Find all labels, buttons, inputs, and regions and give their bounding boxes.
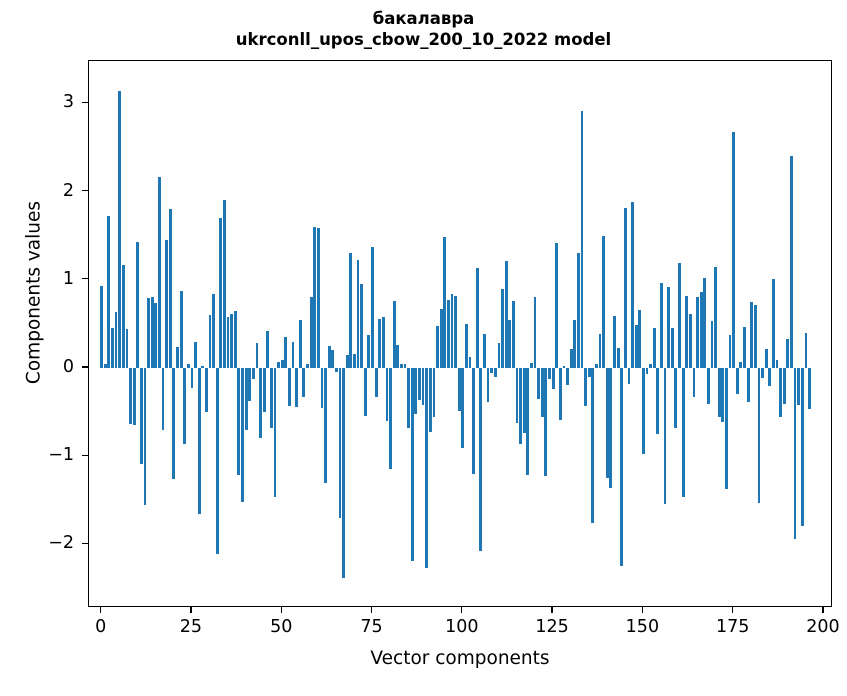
bar	[436, 326, 439, 368]
bar	[552, 368, 555, 389]
bar	[162, 368, 165, 430]
bar	[100, 286, 103, 368]
bar	[732, 132, 735, 368]
y-tick-label: 0	[63, 357, 74, 377]
bar	[519, 368, 522, 444]
bar	[429, 368, 432, 432]
bar	[104, 364, 107, 368]
bar	[122, 265, 125, 368]
bar	[487, 368, 490, 402]
bar	[696, 297, 699, 368]
bar	[682, 368, 685, 497]
bar	[537, 368, 540, 399]
bar	[443, 237, 446, 368]
bar	[591, 368, 594, 523]
bar	[646, 368, 649, 374]
y-tick-mark	[82, 102, 88, 103]
bar	[414, 368, 417, 414]
bar	[656, 368, 659, 434]
bar	[555, 243, 558, 368]
y-tick-mark	[82, 278, 88, 279]
bar	[281, 360, 284, 368]
bar	[411, 368, 414, 561]
bar	[284, 337, 287, 368]
bar	[230, 314, 233, 368]
bar	[364, 368, 367, 416]
y-tick-mark	[82, 366, 88, 367]
bar	[628, 368, 631, 384]
bar	[378, 319, 381, 368]
x-tick-mark	[551, 607, 552, 613]
bar	[541, 368, 544, 417]
bar	[219, 218, 222, 368]
bar	[295, 368, 298, 407]
bar	[638, 310, 641, 368]
bar	[126, 329, 129, 368]
bar	[274, 368, 277, 497]
bar	[313, 227, 316, 368]
bar	[786, 339, 789, 368]
bar	[472, 368, 475, 474]
bar	[237, 368, 240, 475]
bar	[739, 362, 742, 368]
x-tick-mark	[371, 607, 372, 613]
bar	[270, 368, 273, 428]
bar	[508, 320, 511, 368]
bar	[339, 368, 342, 518]
bar	[371, 247, 374, 368]
bar	[526, 368, 529, 475]
bar	[187, 364, 190, 368]
bar	[321, 368, 324, 408]
bar	[367, 335, 370, 369]
bar	[801, 368, 804, 526]
bar	[169, 209, 172, 368]
bar	[516, 368, 519, 423]
bar	[263, 368, 266, 412]
bar	[725, 368, 728, 489]
bar	[667, 287, 670, 368]
plot-area	[88, 60, 832, 607]
x-tick-label: 200	[806, 617, 839, 637]
bar	[144, 368, 147, 505]
bar	[606, 368, 609, 478]
bar	[111, 328, 114, 368]
bar	[299, 320, 302, 368]
bar	[375, 368, 378, 397]
bar	[671, 328, 674, 368]
x-tick-label: 0	[95, 617, 106, 637]
bar	[418, 368, 421, 400]
bar	[534, 297, 537, 368]
bar	[252, 368, 255, 379]
bar	[649, 364, 652, 368]
bar	[198, 368, 201, 514]
bar	[324, 368, 327, 483]
chart-title: бакалавра ukrconll_upos_cbow_200_10_2022…	[0, 8, 847, 50]
bar	[700, 292, 703, 368]
bar	[317, 228, 320, 368]
bar	[310, 297, 313, 368]
x-tick-mark	[100, 607, 101, 613]
bar	[602, 236, 605, 368]
bar	[779, 368, 782, 417]
bar	[245, 368, 248, 430]
bar	[584, 368, 587, 406]
bar	[642, 368, 645, 454]
bar	[599, 334, 602, 368]
y-axis-label: Components values	[24, 143, 45, 443]
bar	[176, 347, 179, 368]
bar	[465, 324, 468, 368]
bar	[750, 302, 753, 368]
bar	[588, 368, 591, 377]
bar	[342, 368, 345, 578]
bar	[277, 362, 280, 368]
chart-title-line-1: бакалавра	[0, 8, 847, 29]
bar	[483, 334, 486, 368]
bar	[400, 364, 403, 368]
x-tick-label: 50	[270, 617, 292, 637]
x-tick-mark	[732, 607, 733, 613]
bar	[476, 268, 479, 368]
bar	[288, 368, 291, 406]
y-tick-mark	[82, 543, 88, 544]
bar	[563, 366, 566, 368]
bar	[440, 309, 443, 368]
bar	[512, 301, 515, 368]
bar	[624, 208, 627, 368]
x-tick-mark	[642, 607, 643, 613]
bar	[129, 368, 132, 424]
bar	[158, 177, 161, 368]
bar	[501, 289, 504, 368]
bar	[595, 364, 598, 368]
bar	[570, 349, 573, 368]
x-tick-label: 75	[360, 617, 382, 637]
bar	[566, 368, 569, 385]
bar	[718, 368, 721, 417]
bar	[335, 368, 338, 372]
bar	[454, 296, 457, 368]
bar	[165, 240, 168, 368]
bar	[573, 320, 576, 368]
bar	[674, 368, 677, 428]
bar	[559, 368, 562, 420]
bar	[266, 331, 269, 368]
bar	[613, 316, 616, 368]
bar	[422, 368, 425, 405]
bar	[118, 91, 121, 368]
bar	[544, 368, 547, 476]
bar	[115, 312, 118, 368]
y-tick-label: 2	[63, 181, 74, 201]
bar	[808, 368, 811, 409]
bar	[433, 368, 436, 417]
bar	[693, 368, 696, 397]
bar	[205, 368, 208, 412]
bar	[353, 354, 356, 368]
y-tick-mark	[82, 455, 88, 456]
bar	[609, 368, 612, 488]
bar	[447, 300, 450, 368]
x-tick-mark	[190, 607, 191, 613]
bar	[389, 368, 392, 469]
bar	[653, 328, 656, 368]
bar	[768, 368, 771, 386]
x-tick-label: 150	[626, 617, 659, 637]
bar	[346, 355, 349, 368]
bar	[227, 317, 230, 368]
y-tick-label: 1	[63, 269, 74, 289]
bar	[154, 303, 157, 368]
bar	[736, 368, 739, 394]
bar	[256, 343, 259, 368]
y-tick-label: −2	[48, 533, 74, 553]
bar	[783, 368, 786, 404]
bar	[747, 368, 750, 402]
bar	[133, 368, 136, 425]
matplotlib-figure: бакалавра ukrconll_upos_cbow_200_10_2022…	[0, 0, 847, 696]
bar	[729, 335, 732, 369]
bar	[451, 294, 454, 368]
bar	[772, 279, 775, 368]
bar	[664, 368, 667, 504]
bar	[797, 368, 800, 405]
x-tick-label: 125	[535, 617, 568, 637]
bar	[180, 291, 183, 368]
bar	[530, 363, 533, 368]
bar	[805, 333, 808, 368]
bar	[241, 368, 244, 502]
bar	[183, 368, 186, 444]
bar	[505, 261, 508, 368]
bar	[425, 368, 428, 568]
bar	[360, 284, 363, 368]
bar	[714, 267, 717, 368]
bar	[386, 368, 389, 421]
x-tick-label: 175	[716, 617, 749, 637]
bar	[479, 368, 482, 551]
bar	[302, 368, 305, 397]
bar	[212, 294, 215, 368]
bar	[765, 349, 768, 368]
bar	[349, 253, 352, 368]
bar	[711, 321, 714, 368]
bar	[331, 350, 334, 368]
x-tick-mark	[822, 607, 823, 613]
bar	[794, 368, 797, 539]
bar	[685, 296, 688, 368]
bar	[396, 345, 399, 368]
bar	[523, 368, 526, 433]
x-tick-label: 25	[180, 617, 202, 637]
bar	[216, 368, 219, 554]
x-tick-mark	[461, 607, 462, 613]
bar	[490, 368, 493, 373]
bar	[306, 364, 309, 368]
bar	[548, 368, 551, 379]
bar	[292, 342, 295, 368]
bar	[191, 368, 194, 388]
bar	[703, 278, 706, 368]
bar	[140, 368, 143, 464]
bar	[754, 305, 757, 369]
bar	[743, 327, 746, 368]
bar	[790, 156, 793, 368]
bar	[136, 242, 139, 368]
bar	[407, 368, 410, 428]
bar	[234, 311, 237, 368]
y-tick-label: −1	[48, 445, 74, 465]
bar	[494, 368, 497, 377]
bar	[617, 348, 620, 368]
bar	[620, 368, 623, 566]
y-tick-label: 3	[63, 92, 74, 112]
bar	[631, 202, 634, 368]
bar	[707, 368, 710, 404]
bar	[328, 346, 331, 368]
bar	[660, 283, 663, 368]
x-tick-label: 100	[445, 617, 478, 637]
chart-title-line-2: ukrconll_upos_cbow_200_10_2022 model	[0, 29, 847, 50]
x-tick-mark	[281, 607, 282, 613]
bar	[194, 342, 197, 368]
bar	[758, 368, 761, 503]
bar	[147, 298, 150, 368]
bar	[721, 368, 724, 422]
x-axis-label: Vector components	[88, 648, 832, 669]
bar	[259, 368, 262, 438]
bar	[151, 297, 154, 368]
bar	[248, 368, 251, 401]
bar	[223, 200, 226, 369]
bar	[689, 314, 692, 368]
bar	[761, 368, 764, 378]
bar	[201, 366, 204, 368]
bar	[209, 315, 212, 368]
bar	[357, 260, 360, 368]
bar	[107, 216, 110, 368]
bar	[776, 360, 779, 368]
bar	[172, 368, 175, 479]
bar	[678, 263, 681, 368]
bar	[458, 368, 461, 411]
bar	[635, 325, 638, 368]
bar	[469, 357, 472, 368]
bar-series	[89, 61, 831, 606]
y-tick-mark	[82, 190, 88, 191]
bar	[382, 317, 385, 368]
bar	[577, 253, 580, 368]
bar	[404, 364, 407, 368]
bar	[393, 301, 396, 368]
bar	[461, 368, 464, 448]
bar	[498, 343, 501, 368]
bar	[581, 111, 584, 368]
